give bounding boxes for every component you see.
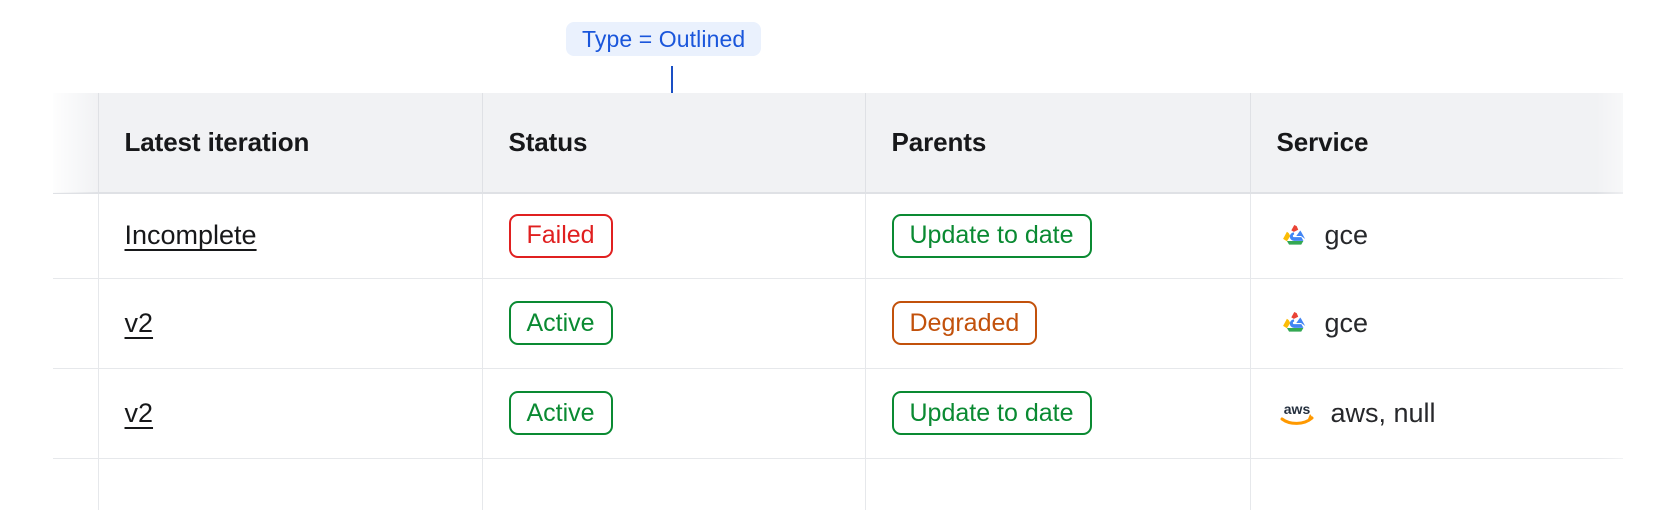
row-pin-cell xyxy=(53,458,98,510)
table-header-row: Latest iteration Status Parents Service xyxy=(53,93,1623,193)
parents-badge[interactable]: Degraded xyxy=(892,301,1038,345)
screenshot-root: Type = Outlined Latest iteration Status … xyxy=(0,0,1672,510)
service-value: aws aws, null xyxy=(1277,398,1624,429)
annotation-pill: Type = Outlined xyxy=(566,22,761,56)
status-badge[interactable]: Active xyxy=(509,301,613,345)
cell-status: Active xyxy=(482,278,865,368)
cell-status xyxy=(482,458,865,510)
data-table-container: Latest iteration Status Parents Service … xyxy=(53,93,1623,510)
cell-status: Active xyxy=(482,368,865,458)
table-row[interactable]: v2 Active Update to date aws xyxy=(53,368,1623,458)
google-cloud-icon xyxy=(1277,306,1311,340)
row-pin-cell xyxy=(53,368,98,458)
iteration-link[interactable]: Incomplete xyxy=(125,220,257,250)
data-table: Latest iteration Status Parents Service … xyxy=(53,93,1623,510)
cell-status: Failed xyxy=(482,193,865,278)
cell-latest-iteration: Incomplete xyxy=(98,193,482,278)
service-value: gce xyxy=(1277,306,1624,340)
cell-parents: Degraded xyxy=(865,278,1250,368)
aws-icon: aws xyxy=(1277,398,1317,428)
cell-latest-iteration: v2 xyxy=(98,368,482,458)
row-pin-cell xyxy=(53,278,98,368)
svg-text:aws: aws xyxy=(1283,401,1310,417)
parents-badge[interactable]: Update to date xyxy=(892,214,1092,258)
cell-service: gce xyxy=(1250,193,1623,278)
iteration-link[interactable]: v2 xyxy=(125,398,154,428)
column-header-pin xyxy=(53,93,98,193)
service-label: gce xyxy=(1325,308,1369,339)
status-badge[interactable]: Failed xyxy=(509,214,613,258)
column-header-latest-iteration[interactable]: Latest iteration xyxy=(98,93,482,193)
table-row[interactable]: v2 Active Degraded xyxy=(53,278,1623,368)
cell-service: aws aws, null xyxy=(1250,368,1623,458)
cell-latest-iteration: v2 xyxy=(98,278,482,368)
cell-parents: Update to date xyxy=(865,368,1250,458)
row-pin-cell xyxy=(53,193,98,278)
cell-parents: Update to date xyxy=(865,193,1250,278)
status-badge[interactable]: Active xyxy=(509,391,613,435)
parents-badge[interactable]: Update to date xyxy=(892,391,1092,435)
cell-service xyxy=(1250,458,1623,510)
iteration-link[interactable]: v2 xyxy=(125,308,154,338)
table-row[interactable] xyxy=(53,458,1623,510)
cell-latest-iteration xyxy=(98,458,482,510)
column-header-service[interactable]: Service xyxy=(1250,93,1623,193)
google-cloud-icon xyxy=(1277,219,1311,253)
table-row[interactable]: Incomplete Failed Update to date xyxy=(53,193,1623,278)
service-label: gce xyxy=(1325,220,1369,251)
service-value: gce xyxy=(1277,219,1624,253)
cell-service: gce xyxy=(1250,278,1623,368)
service-label: aws, null xyxy=(1331,398,1436,429)
table-body: Incomplete Failed Update to date xyxy=(53,193,1623,510)
cell-parents xyxy=(865,458,1250,510)
table-header: Latest iteration Status Parents Service xyxy=(53,93,1623,193)
column-header-status[interactable]: Status xyxy=(482,93,865,193)
column-header-parents[interactable]: Parents xyxy=(865,93,1250,193)
